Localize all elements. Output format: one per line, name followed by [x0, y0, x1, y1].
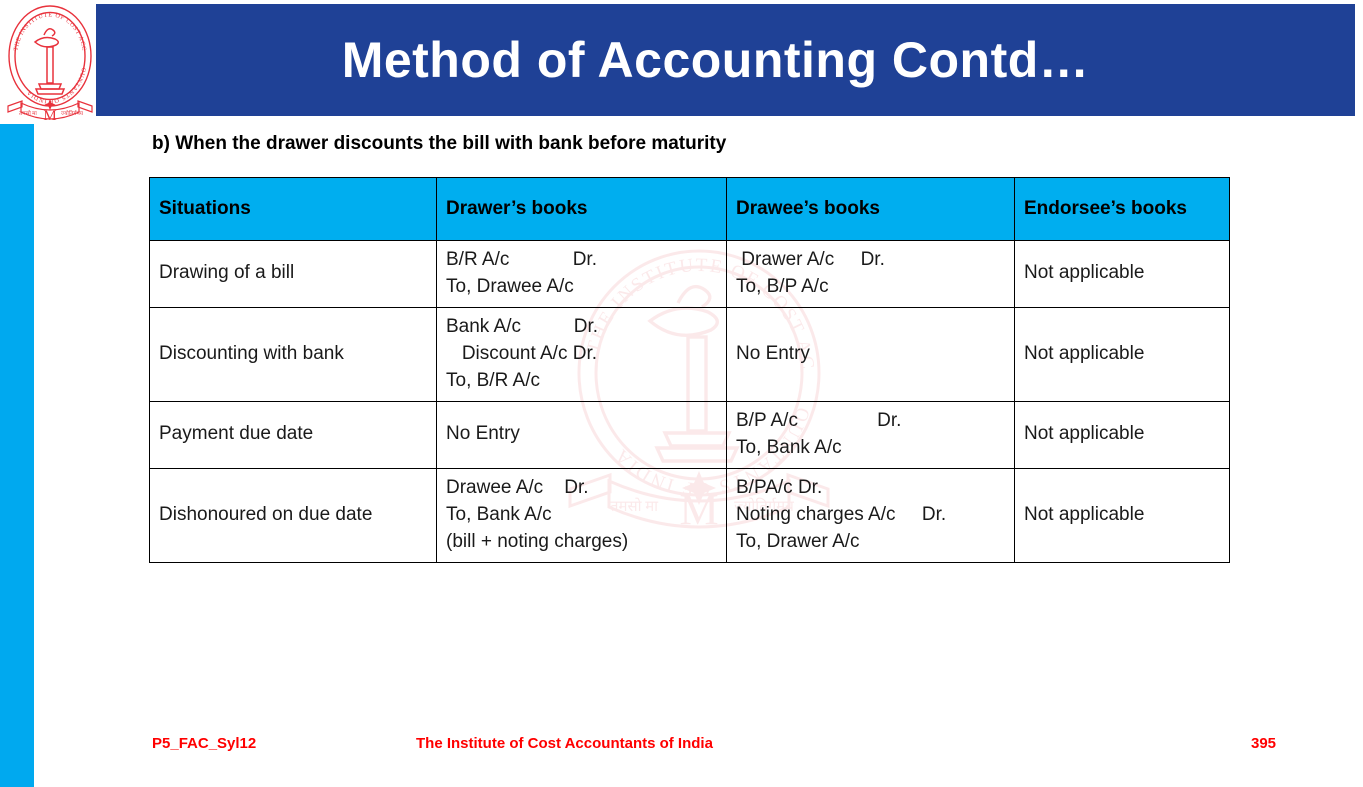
- column-header-situations: Situations: [150, 178, 437, 241]
- entry-line: Drawer A/c Dr.: [736, 247, 1014, 274]
- cell-situation: Discounting with bank: [150, 307, 437, 401]
- cell-drawee-entry: B/P A/c Dr.To, Bank A/c: [727, 401, 1015, 468]
- entry-line: Noting charges A/c Dr.: [736, 502, 1014, 529]
- left-accent-strip: [0, 124, 34, 787]
- table-row: Payment due date No Entry B/P A/c Dr.To,…: [150, 401, 1230, 468]
- journal-entries-table: Situations Drawer’s books Drawee’s books…: [149, 177, 1230, 563]
- entry-line: To, Bank A/c: [446, 502, 726, 529]
- footer-institute-name: The Institute of Cost Accountants of Ind…: [416, 735, 713, 752]
- cell-drawer-entry: Bank A/c Dr. Discount A/c Dr.To, B/R A/c: [437, 307, 727, 401]
- cell-drawer-entry: Drawee A/c Dr.To, Bank A/c(bill + noting…: [437, 468, 727, 562]
- slide-header-band: Method of Accounting Contd…: [96, 4, 1355, 116]
- table-header-row: Situations Drawer’s books Drawee’s books…: [150, 178, 1230, 241]
- entry-line: Not applicable: [1024, 260, 1229, 287]
- cell-endorsee-entry: Not applicable: [1015, 241, 1230, 308]
- svg-text:M: M: [43, 108, 56, 122]
- page-title: Method of Accounting Contd…: [96, 4, 1355, 116]
- entry-line: No Entry: [446, 421, 726, 448]
- entry-line: Not applicable: [1024, 341, 1229, 368]
- slide-footer: P5_FAC_Syl12 The Institute of Cost Accou…: [0, 735, 1363, 761]
- entry-line: To, Drawee A/c: [446, 274, 726, 301]
- entry-line: Discount A/c Dr.: [446, 341, 726, 368]
- footer-subject-code: P5_FAC_Syl12: [152, 735, 256, 752]
- institute-logo-icon: THE INSTITUTE OF COST ACC OUNTANTS OF IN…: [4, 2, 96, 122]
- table-row: Discounting with bank Bank A/c Dr. Disco…: [150, 307, 1230, 401]
- slide-canvas: Method of Accounting Contd… THE INSTITUT…: [0, 0, 1363, 787]
- cell-endorsee-entry: Not applicable: [1015, 307, 1230, 401]
- cell-situation: Dishonoured on due date: [150, 468, 437, 562]
- entry-line: To, Drawer A/c: [736, 529, 1014, 556]
- cell-drawee-entry: B/PA/c Dr.Noting charges A/c Dr.To, Draw…: [727, 468, 1015, 562]
- cell-situation: Payment due date: [150, 401, 437, 468]
- svg-text:ज्योतिर्गमय: ज्योतिर्गमय: [61, 110, 84, 117]
- entry-line: To, B/P A/c: [736, 274, 1014, 301]
- cell-situation: Drawing of a bill: [150, 241, 437, 308]
- table-row: Dishonoured on due date Drawee A/c Dr.To…: [150, 468, 1230, 562]
- cell-endorsee-entry: Not applicable: [1015, 468, 1230, 562]
- cell-drawee-entry: Drawer A/c Dr.To, B/P A/c: [727, 241, 1015, 308]
- column-header-endorsees-books: Endorsee’s books: [1015, 178, 1230, 241]
- entry-line: B/PA/c Dr.: [736, 475, 1014, 502]
- column-header-drawees-books: Drawee’s books: [727, 178, 1015, 241]
- entry-line: To, B/R A/c: [446, 368, 726, 395]
- entry-line: B/R A/c Dr.: [446, 247, 726, 274]
- footer-page-number: 395: [1251, 735, 1276, 752]
- svg-text:OUNTANTS OF INDIA: OUNTANTS OF INDIA: [25, 67, 87, 105]
- section-subtitle: b) When the drawer discounts the bill wi…: [152, 133, 726, 155]
- entry-line: B/P A/c Dr.: [736, 408, 1014, 435]
- cell-drawer-entry: No Entry: [437, 401, 727, 468]
- entry-line: Not applicable: [1024, 421, 1229, 448]
- cell-drawee-entry: No Entry: [727, 307, 1015, 401]
- entry-line: (bill + noting charges): [446, 529, 726, 556]
- entry-line: No Entry: [736, 341, 1014, 368]
- entry-line: To, Bank A/c: [736, 435, 1014, 462]
- svg-text:तमसो मा: तमसो मा: [19, 110, 37, 117]
- entry-line: Drawee A/c Dr.: [446, 475, 726, 502]
- column-header-drawers-books: Drawer’s books: [437, 178, 727, 241]
- entry-line: Not applicable: [1024, 502, 1229, 529]
- cell-drawer-entry: B/R A/c Dr.To, Drawee A/c: [437, 241, 727, 308]
- cell-endorsee-entry: Not applicable: [1015, 401, 1230, 468]
- table-row: Drawing of a bill B/R A/c Dr.To, Drawee …: [150, 241, 1230, 308]
- entry-line: Bank A/c Dr.: [446, 314, 726, 341]
